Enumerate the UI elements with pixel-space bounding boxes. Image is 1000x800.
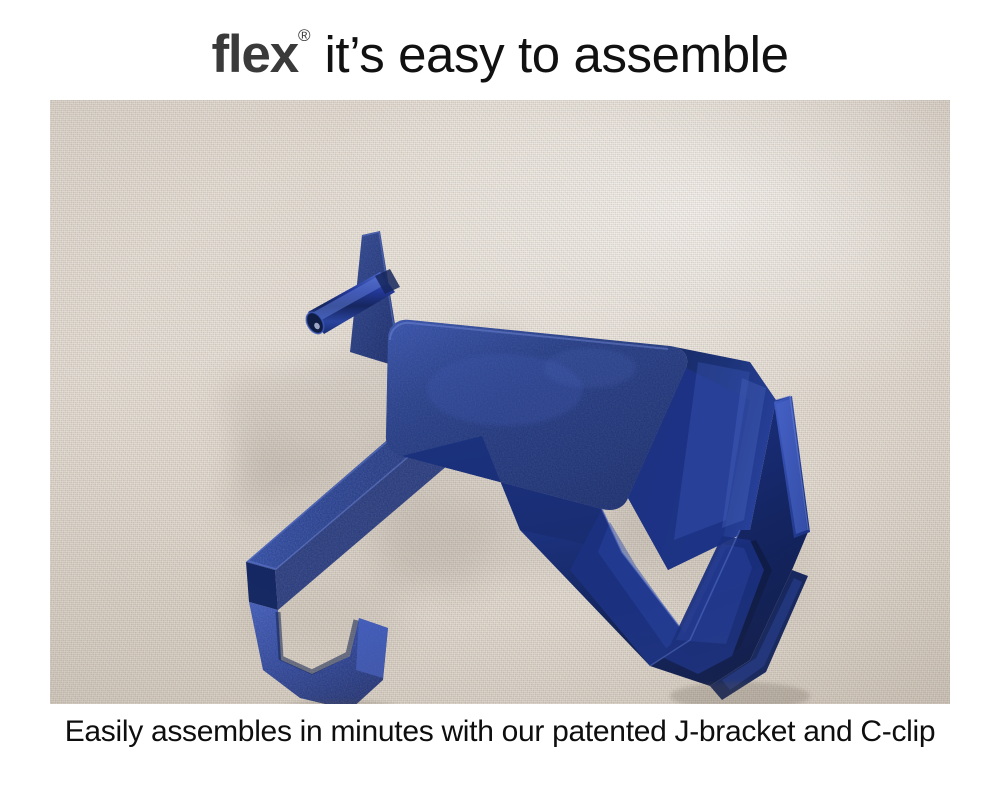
page-title: flex® it’s easy to assemble bbox=[0, 28, 1000, 88]
product-slide: flex® it’s easy to assemble bbox=[0, 0, 1000, 800]
registered-trademark-icon: ® bbox=[298, 26, 311, 45]
photo-vignette bbox=[50, 100, 950, 704]
brand-wordmark: flex® bbox=[211, 28, 310, 81]
brand-name: flex bbox=[211, 25, 298, 84]
product-photo bbox=[50, 100, 950, 704]
photo-caption: Easily assembles in minutes with our pat… bbox=[0, 706, 1000, 758]
tagline: it’s easy to assemble bbox=[325, 29, 789, 80]
